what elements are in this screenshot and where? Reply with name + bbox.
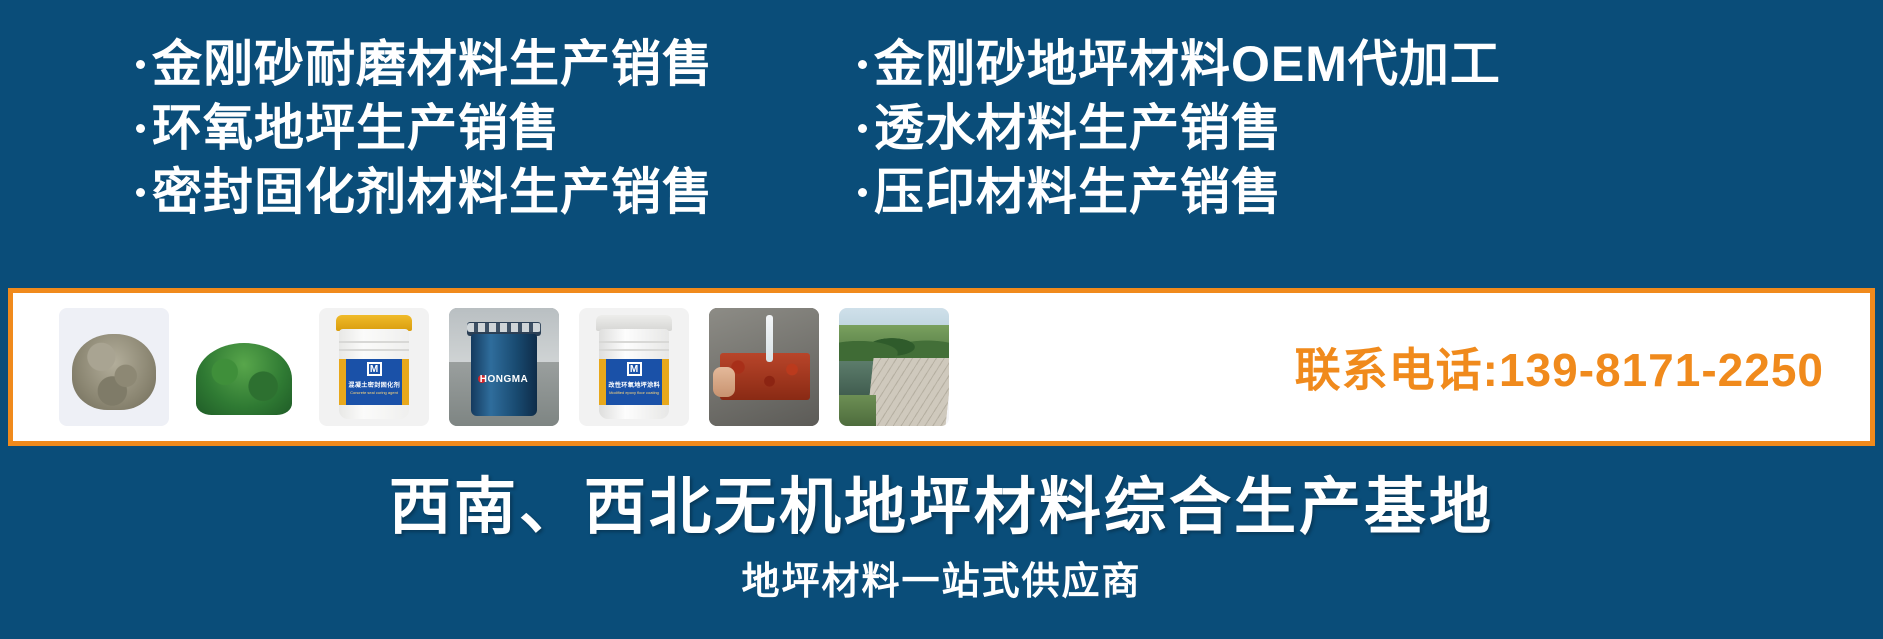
path-scene-grass [839,395,876,426]
product-thumb-sealer-bucket: M 混凝土密封固化剂 Concrete seal curing agent [319,308,429,426]
brand-mark-m: M [367,362,382,376]
service-item: 金刚砂耐磨材料生产销售 [136,36,836,92]
bullet-dot-icon [136,124,145,133]
bucket-ring [339,349,409,351]
green-powder-pile-icon [196,343,292,415]
service-list-right: 金刚砂地坪材料OEM代加工 透水材料生产销售 压印材料生产销售 [858,36,1618,226]
drum-brand-label: HONGMA [471,374,537,385]
bucket-label-cn: 混凝土密封固化剂 [348,379,400,389]
service-item: 压印材料生产销售 [858,164,1618,220]
bullet-dot-icon [136,188,145,197]
water-stream-icon [766,315,773,362]
product-strip: M 混凝土密封固化剂 Concrete seal curing agent [8,288,1875,446]
bullet-dot-icon [858,124,867,133]
footer-headline: 西南、西北无机地坪材料综合生产基地 [0,456,1883,546]
service-label: 金刚砂耐磨材料生产销售 [152,36,713,92]
service-label: 环氧地坪生产销售 [152,100,560,156]
service-item: 环氧地坪生产销售 [136,100,836,156]
service-label: 压印材料生产销售 [874,164,1282,220]
bucket-icon: M 改性环氧地坪涂料 Modified epoxy floor coating [596,315,672,419]
product-thumb-hongma-blue-drum: HONGMA [449,308,559,426]
bullet-dot-icon [858,60,867,69]
promo-banner: 金刚砂耐磨材料生产销售 环氧地坪生产销售 密封固化剂材料生产销售 金刚砂地坪材料… [0,0,1883,639]
service-lists: 金刚砂耐磨材料生产销售 环氧地坪生产销售 密封固化剂材料生产销售 金刚砂地坪材料… [0,36,1883,226]
product-thumb-green-abrasive-powder [189,308,299,426]
drum-body: HONGMA [471,334,537,416]
product-thumb-permeable-concrete-slab [709,308,819,426]
service-list-left: 金刚砂耐磨材料生产销售 环氧地坪生产销售 密封固化剂材料生产销售 [136,36,836,226]
service-label: 金刚砂地坪材料OEM代加工 [874,36,1501,92]
service-item: 透水材料生产销售 [858,100,1618,156]
product-thumb-grey-abrasive-powder [59,308,169,426]
bucket-icon: M 混凝土密封固化剂 Concrete seal curing agent [336,315,412,419]
product-thumb-permeable-pavement-path [839,308,949,426]
bullet-dot-icon [858,188,867,197]
bucket-ring [339,341,409,343]
service-label: 透水材料生产销售 [874,100,1282,156]
bucket-ring [599,341,669,343]
service-item: 金刚砂地坪材料OEM代加工 [858,36,1618,92]
footer-subline: 地坪材料一站式供应商 [0,550,1883,605]
bucket-label-en: Concrete seal curing agent [350,390,398,395]
product-thumbnail-list: M 混凝土密封固化剂 Concrete seal curing agent [13,293,969,441]
bucket-label-cn: 改性环氧地坪涂料 [608,379,660,389]
bullet-dot-icon [136,60,145,69]
bucket-label: M 改性环氧地坪涂料 Modified epoxy floor coating [599,359,669,405]
bucket-label: M 混凝土密封固化剂 Concrete seal curing agent [339,359,409,405]
bucket-label-en: Modified epoxy floor coating [609,390,659,395]
path-scene-pavement [866,358,949,426]
drum-clamps [467,323,541,332]
bucket-ring [599,349,669,351]
product-thumb-epoxy-coating-bucket: M 改性环氧地坪涂料 Modified epoxy floor coating [579,308,689,426]
service-label: 密封固化剂材料生产销售 [152,164,713,220]
drum-icon: HONGMA [471,322,537,416]
contact-phone[interactable]: 联系电话:139-8171-2250 [1295,334,1824,400]
hand-icon [713,367,735,397]
grey-powder-pile-icon [72,334,156,410]
service-item: 密封固化剂材料生产销售 [136,164,836,220]
brand-mark-m: M [627,362,642,376]
